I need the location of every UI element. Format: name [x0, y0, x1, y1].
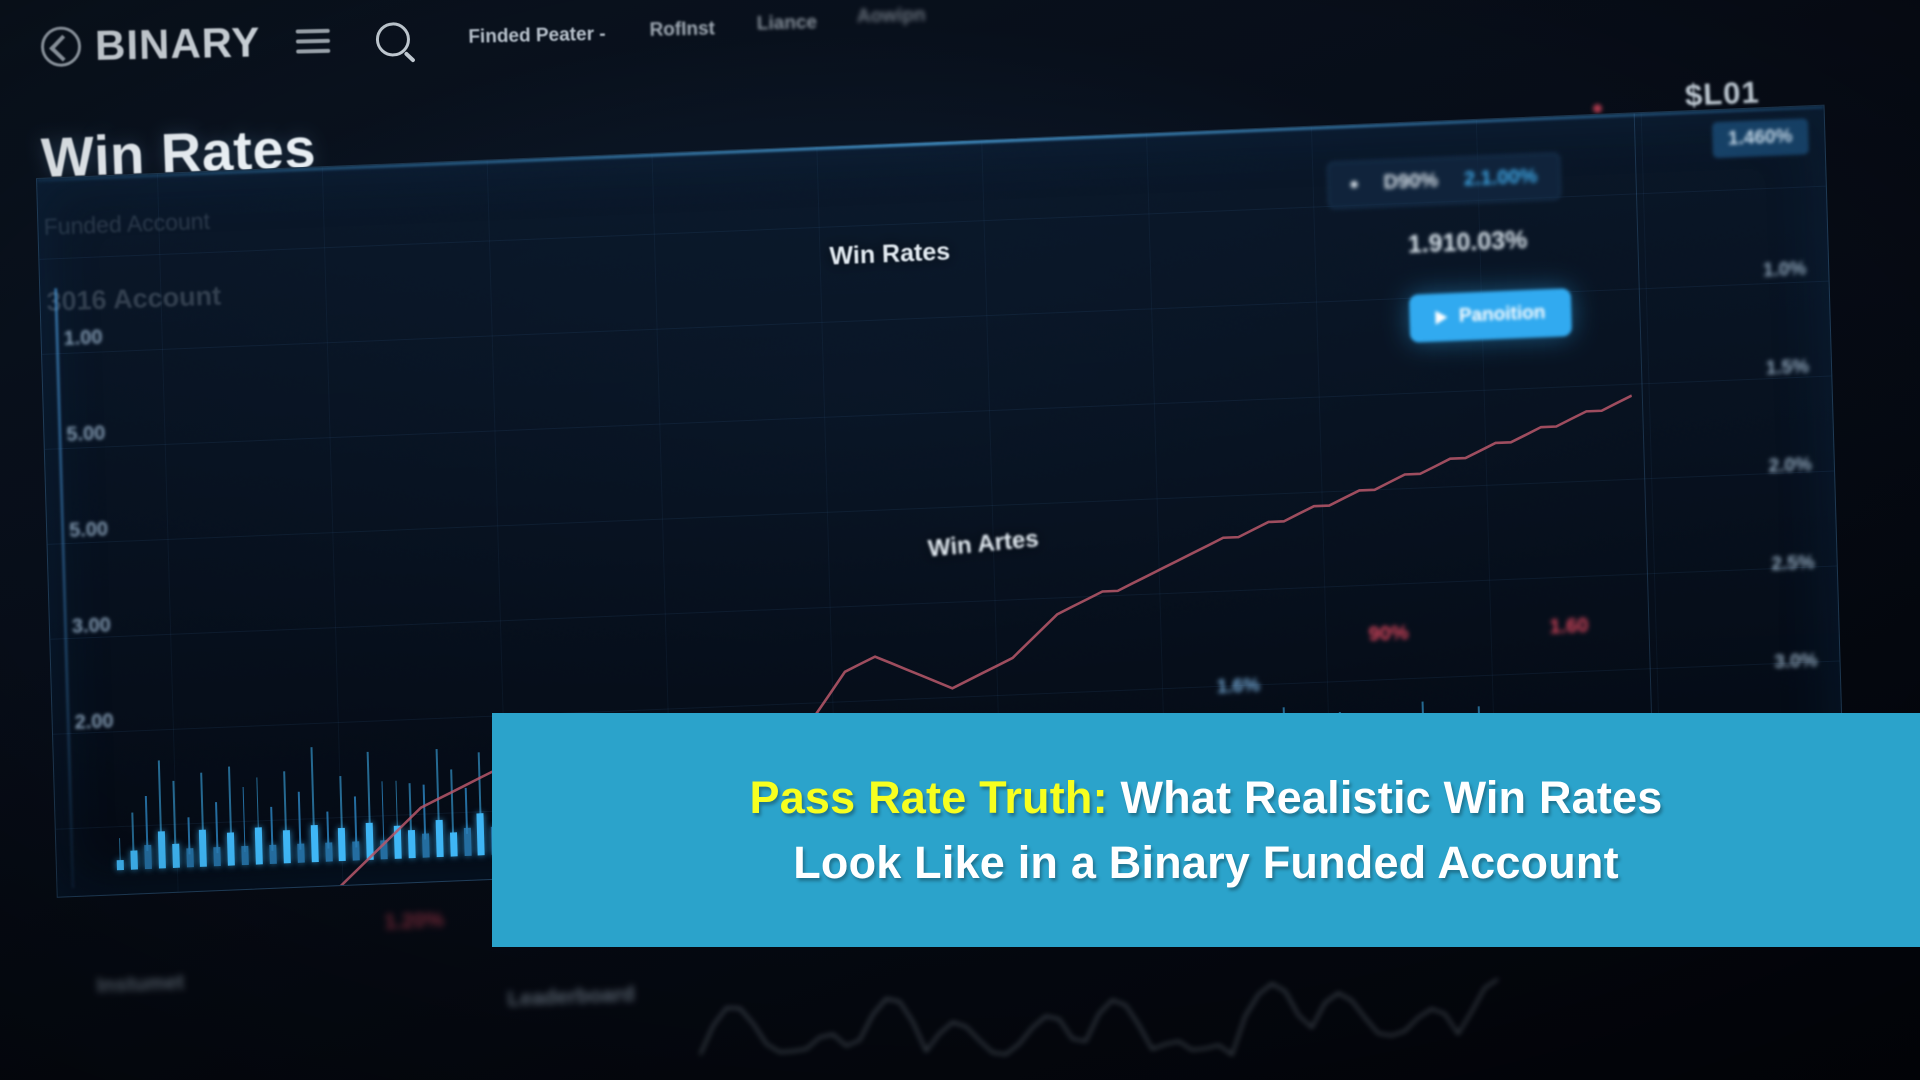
brand-logo[interactable]: BINARY: [41, 18, 261, 71]
ladder-level-0: 1.0%: [1763, 258, 1807, 282]
chip-value: D90%: [1383, 170, 1438, 195]
circle-back-arrow-icon: [41, 26, 82, 67]
y-tick-0: 1.00: [63, 326, 103, 351]
search-icon[interactable]: [376, 22, 411, 57]
nav-link-0[interactable]: Finded Peater -: [468, 24, 606, 49]
nav-link-3[interactable]: Aowipn: [857, 5, 926, 28]
headline-rest: What Realistic Win Rates: [1108, 772, 1663, 823]
headline-highlight: Pass Rate Truth:: [749, 772, 1107, 823]
big-value-readout: 1.910.03%: [1407, 226, 1527, 260]
play-triangle-icon: [1436, 310, 1448, 324]
chip-change: 2.1.00%: [1464, 165, 1538, 191]
hamburger-menu-icon[interactable]: [296, 23, 331, 60]
y-tick-2: 5.00: [69, 518, 109, 543]
red-percent-1: 90%: [1368, 622, 1409, 647]
y-tick-3: 3.00: [72, 614, 112, 639]
bottom-widget-2: 1.20%: [384, 908, 444, 934]
blue-percent: 1.6%: [1216, 675, 1260, 699]
bottom-widget-1: Leaderboard: [507, 983, 635, 1012]
screenshot-root: BINARY Finded Peater - RofInst Liance Ao…: [0, 0, 1920, 1080]
ladder-level-1: 1.5%: [1765, 356, 1809, 380]
play-button-label: Panoition: [1459, 302, 1546, 328]
headline-banner: Pass Rate Truth: What Realistic Win Rate…: [492, 713, 1920, 947]
ladder-high-value: 1.460%: [1712, 118, 1809, 158]
ladder-level-3: 2.5%: [1771, 552, 1815, 576]
chip-dot-icon: [1351, 181, 1358, 188]
y-tick-1: 5.00: [66, 422, 106, 447]
ladder-level-4: 3.0%: [1774, 650, 1818, 674]
price-status-dot: [1593, 104, 1602, 113]
headline-line-1: Pass Rate Truth: What Realistic Win Rate…: [749, 768, 1662, 827]
logo-text: BINARY: [95, 18, 261, 70]
bottom-mini-chart: [700, 960, 1500, 1080]
chart-title-label: Win Rates: [829, 238, 950, 272]
red-percent-2: 1.60: [1549, 615, 1589, 640]
headline-line-2: Look Like in a Binary Funded Account: [793, 833, 1619, 892]
play-button[interactable]: Panoition: [1409, 288, 1572, 343]
ladder-level-2: 2.0%: [1768, 454, 1812, 478]
stat-chip: D90% 2.1.00%: [1327, 153, 1561, 210]
nav-link-2[interactable]: Liance: [757, 12, 818, 35]
bottom-widget-0: Instumet: [96, 971, 184, 998]
nav-link-1[interactable]: RofInst: [649, 18, 715, 41]
nav-links: Finded Peater - RofInst Liance Aowipn: [468, 17, 926, 49]
